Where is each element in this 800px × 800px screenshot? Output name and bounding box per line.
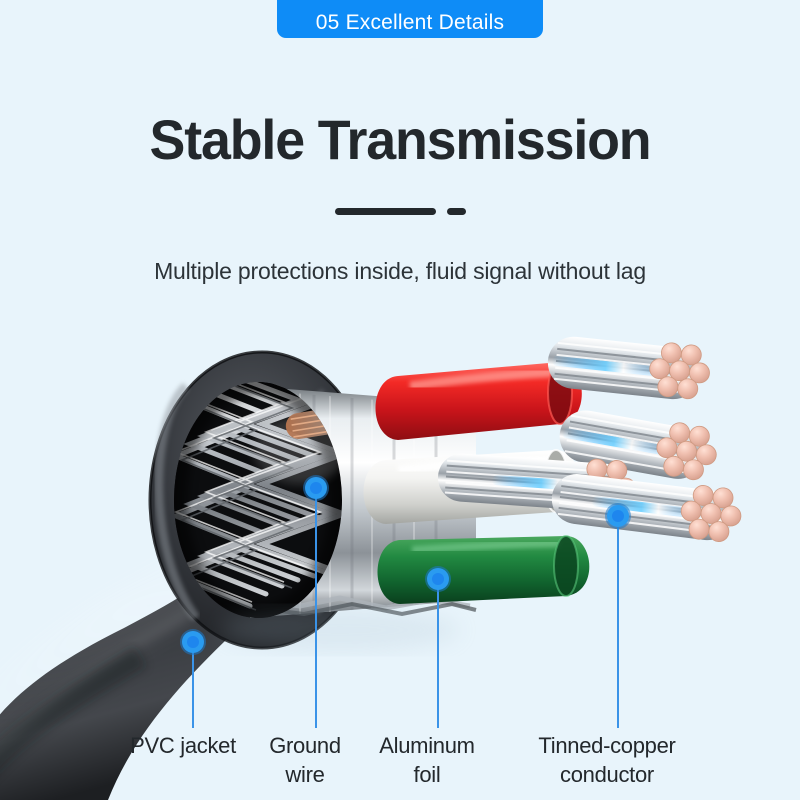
callout-dot-ground-wire[interactable] [305, 477, 327, 499]
callout-dot-aluminum-foil[interactable] [427, 568, 449, 590]
leader-line-aluminum-foil [437, 578, 439, 728]
page-subtitle: Multiple protections inside, fluid signa… [0, 258, 800, 285]
label-aluminum-foil-line1: Aluminum [347, 731, 507, 760]
inner-wire-green [378, 536, 590, 604]
callout-dot-tinned-copper[interactable] [607, 505, 629, 527]
cable-cutaway-illustration [0, 300, 800, 800]
label-tinned-copper: Tinned-copper conductor [487, 731, 727, 790]
callout-labels: PVC jacket Ground wire Aluminum foil Tin… [0, 728, 800, 800]
leader-line-pvc-jacket [192, 641, 194, 728]
product-detail-page: 05 Excellent Details Stable Transmission… [0, 0, 800, 800]
title-divider [0, 206, 800, 216]
leader-line-tinned-copper [617, 515, 619, 728]
page-title: Stable Transmission [16, 112, 784, 168]
cable-svg [0, 300, 800, 800]
leader-line-ground-wire [315, 487, 317, 728]
divider-dash-long [335, 208, 436, 215]
section-number-badge: 05 Excellent Details [277, 0, 543, 38]
label-aluminum-foil-line2: foil [347, 760, 507, 789]
callout-dot-pvc-jacket[interactable] [182, 631, 204, 653]
label-tinned-copper-line2: conductor [487, 760, 727, 789]
label-aluminum-foil: Aluminum foil [347, 731, 507, 790]
badge-label: 05 Excellent Details [316, 12, 504, 33]
label-tinned-copper-line1: Tinned-copper [487, 731, 727, 760]
divider-dash-short [447, 208, 466, 215]
